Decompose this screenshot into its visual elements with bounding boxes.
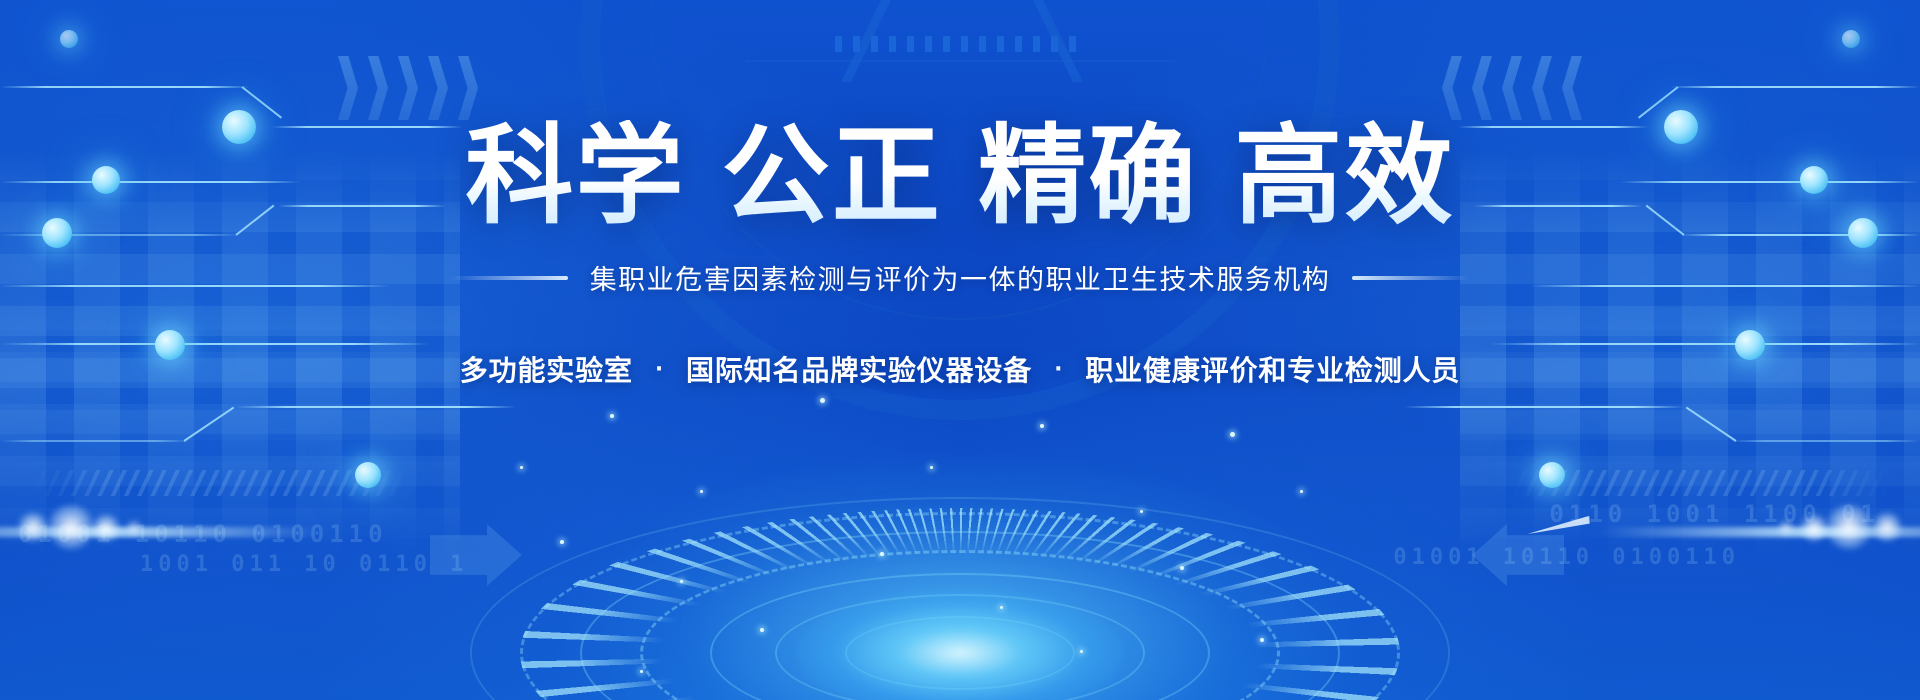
headline-word-1: 科学 bbox=[465, 114, 685, 239]
tagline-item-1: 多功能实验室 bbox=[460, 349, 633, 389]
headline-word-4: 高效 bbox=[1234, 114, 1454, 239]
hero-banner: 01001 10110 0100110 1001 011 10 0110 1 0… bbox=[0, 0, 1920, 700]
banner-content: 科学公正精确高效 集职业危害因素检测与评价为一体的职业卫生技术服务机构 多功能实… bbox=[0, 120, 1920, 389]
headline-word-2: 公正 bbox=[722, 114, 942, 239]
tagline-item-2: 国际知名品牌实验仪器设备 bbox=[686, 349, 1032, 389]
headline-word-3: 精确 bbox=[978, 114, 1198, 239]
banner-subtitle: 集职业危害因素检测与评价为一体的职业卫生技术服务机构 bbox=[590, 258, 1331, 297]
tagline-separator-1: · bbox=[655, 357, 664, 382]
tagline-separator-2: · bbox=[1054, 357, 1063, 382]
divider-right bbox=[1352, 276, 1470, 280]
subtitle-row: 集职业危害因素检测与评价为一体的职业卫生技术服务机构 bbox=[0, 258, 1920, 297]
banner-tagline: 多功能实验室 · 国际知名品牌实验仪器设备 · 职业健康评价和专业检测人员 bbox=[0, 349, 1920, 389]
divider-left bbox=[450, 276, 568, 280]
page-title: 科学公正精确高效 bbox=[465, 120, 1454, 234]
tagline-item-3: 职业健康评价和专业检测人员 bbox=[1085, 349, 1460, 389]
